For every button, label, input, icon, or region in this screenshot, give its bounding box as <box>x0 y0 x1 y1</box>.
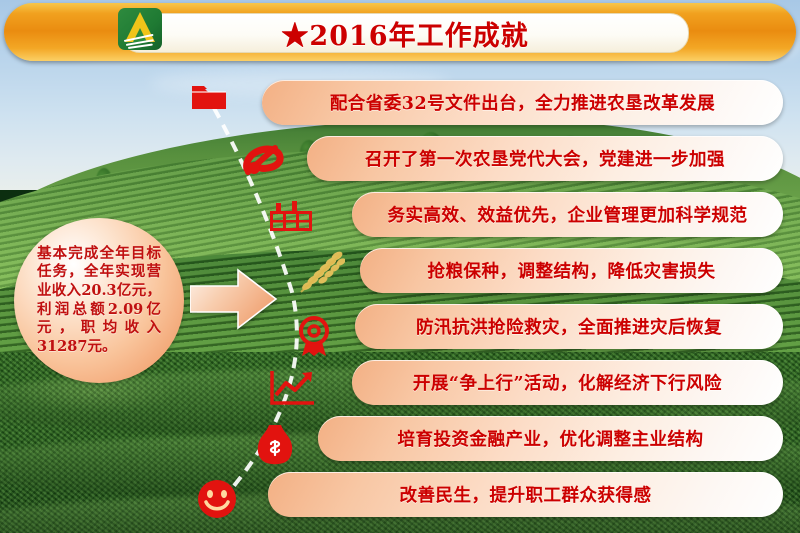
page-title: ★2016年工作成就 <box>281 14 528 53</box>
growth-chart-icon <box>268 369 316 409</box>
summary-oval: 基本完成全年目标任务，全年实现营业收入20.3亿元，利润总额2.09亿元，职均收… <box>14 218 184 383</box>
award-ribbon-icon <box>295 315 333 357</box>
achievement-label-2: 召开了第一次农垦党代大会，党建进一步加强 <box>365 146 725 171</box>
achievement-pill-7[interactable]: 培育投资金融产业，优化调整主业结构 <box>318 416 783 461</box>
slide-canvas: ★2016年工作成就 基本完成全年目标任务，全年实现营业收入20.3亿元，利润总… <box>0 0 800 533</box>
summary-text: 基本完成全年目标任务，全年实现营业收入20.3亿元，利润总额2.09亿元，职均收… <box>37 245 161 356</box>
achievement-pill-5[interactable]: 防汛抗洪抢险救灾，全面推进灾后恢复 <box>355 304 783 349</box>
money-bag-icon <box>255 423 295 467</box>
achievement-pill-6[interactable]: 开展“争上行”活动，化解经济下行风险 <box>352 360 783 405</box>
achievement-pill-3[interactable]: 务实高效、效益优先，企业管理更加科学规范 <box>352 192 783 237</box>
achievement-label-8: 改善民生，提升职工群众获得感 <box>400 482 652 507</box>
achievement-label-5: 防汛抗洪抢险救灾，全面推进灾后恢复 <box>416 314 722 339</box>
achievement-pill-2[interactable]: 召开了第一次农垦党代大会，党建进一步加强 <box>307 136 783 181</box>
title-inner-plate: ★2016年工作成就 <box>121 13 689 53</box>
achievement-label-6: 开展“争上行”活动，化解经济下行风险 <box>413 370 722 395</box>
achievement-label-4: 抢粮保种，调整结构，降低灾害损失 <box>428 258 716 283</box>
folder-icon <box>190 82 228 112</box>
achievement-label-3: 务实高效、效益优先，企业管理更加科学规范 <box>388 202 748 227</box>
achievement-pill-1[interactable]: 配合省委32号文件出台，全力推进农垦改革发展 <box>262 80 783 125</box>
achievement-label-1: 配合省委32号文件出台，全力推进农垦改革发展 <box>330 90 715 115</box>
smiley-face-icon <box>196 478 238 520</box>
achievement-pill-8[interactable]: 改善民生，提升职工群众获得感 <box>268 472 783 517</box>
achievement-pill-4[interactable]: 抢粮保种，调整结构，降低灾害损失 <box>360 248 783 293</box>
factory-icon <box>268 199 314 233</box>
right-arrow-icon <box>190 268 278 330</box>
agriculture-reclamation-logo-icon <box>118 8 162 50</box>
achievement-label-7: 培育投资金融产业，优化调整主业结构 <box>398 426 704 451</box>
party-emblem-icon <box>241 139 285 181</box>
wheat-icon <box>293 248 345 296</box>
